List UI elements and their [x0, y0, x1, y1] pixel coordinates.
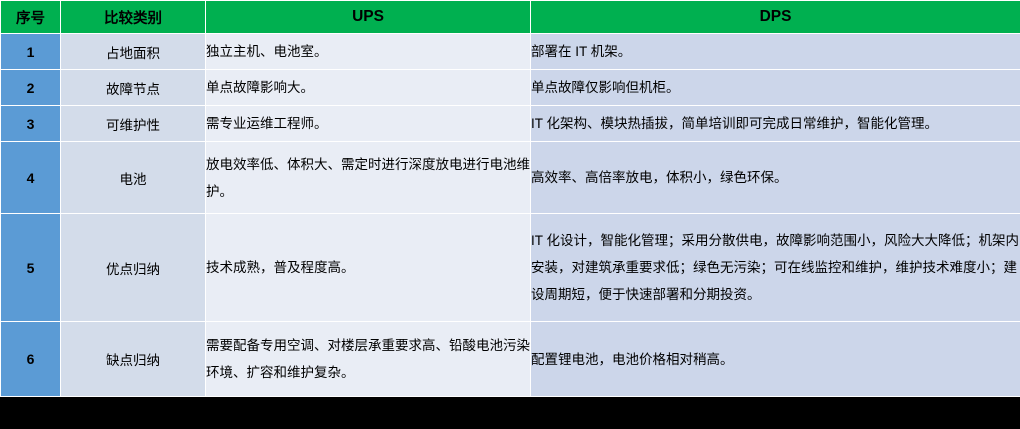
row-seq: 5	[1, 214, 61, 322]
table-row: 2 故障节点 单点故障影响大。 单点故障仅影响但机柜。	[1, 70, 1020, 106]
table-row: 5 优点归纳 技术成熟，普及程度高。 IT 化设计，智能化管理；采用分散供电，故…	[1, 214, 1020, 322]
column-header-ups: UPS	[206, 1, 531, 34]
table-row: 4 电池 放电效率低、体积大、需定时进行深度放电进行电池维护。 高效率、高倍率放…	[1, 142, 1020, 214]
row-category: 电池	[61, 142, 206, 214]
row-category: 占地面积	[61, 34, 206, 70]
row-ups: 放电效率低、体积大、需定时进行深度放电进行电池维护。	[206, 142, 531, 214]
row-category: 优点归纳	[61, 214, 206, 322]
row-category: 故障节点	[61, 70, 206, 106]
row-dps: 配置锂电池，电池价格相对稍高。	[531, 322, 1020, 397]
ups-dps-comparison-table: 序号 比较类别 UPS DPS 1 占地面积 独立主机、电池室。 部署在 IT …	[0, 0, 1020, 397]
table-header-row: 序号 比较类别 UPS DPS	[1, 1, 1020, 34]
row-seq: 3	[1, 106, 61, 142]
column-header-seq: 序号	[1, 1, 61, 34]
row-ups: 需专业运维工程师。	[206, 106, 531, 142]
table-body: 1 占地面积 独立主机、电池室。 部署在 IT 机架。 2 故障节点 单点故障影…	[1, 34, 1020, 397]
row-seq: 1	[1, 34, 61, 70]
column-header-category: 比较类别	[61, 1, 206, 34]
row-dps: IT 化架构、模块热插拔，简单培训即可完成日常维护，智能化管理。	[531, 106, 1020, 142]
row-ups: 技术成熟，普及程度高。	[206, 214, 531, 322]
row-dps: IT 化设计，智能化管理；采用分散供电，故障影响范围小，风险大大降低；机架内安装…	[531, 214, 1020, 322]
table-header: 序号 比较类别 UPS DPS	[1, 1, 1020, 34]
row-seq: 4	[1, 142, 61, 214]
row-dps: 部署在 IT 机架。	[531, 34, 1020, 70]
row-ups: 需要配备专用空调、对楼层承重要求高、铅酸电池污染环境、扩容和维护复杂。	[206, 322, 531, 397]
table-row: 3 可维护性 需专业运维工程师。 IT 化架构、模块热插拔，简单培训即可完成日常…	[1, 106, 1020, 142]
table-row: 6 缺点归纳 需要配备专用空调、对楼层承重要求高、铅酸电池污染环境、扩容和维护复…	[1, 322, 1020, 397]
column-header-dps: DPS	[531, 1, 1020, 34]
row-category: 可维护性	[61, 106, 206, 142]
table-row: 1 占地面积 独立主机、电池室。 部署在 IT 机架。	[1, 34, 1020, 70]
row-dps: 单点故障仅影响但机柜。	[531, 70, 1020, 106]
page-root: 序号 比较类别 UPS DPS 1 占地面积 独立主机、电池室。 部署在 IT …	[0, 0, 1020, 429]
row-ups: 单点故障影响大。	[206, 70, 531, 106]
row-seq: 2	[1, 70, 61, 106]
row-seq: 6	[1, 322, 61, 397]
row-dps: 高效率、高倍率放电，体积小，绿色环保。	[531, 142, 1020, 214]
row-ups: 独立主机、电池室。	[206, 34, 531, 70]
row-category: 缺点归纳	[61, 322, 206, 397]
